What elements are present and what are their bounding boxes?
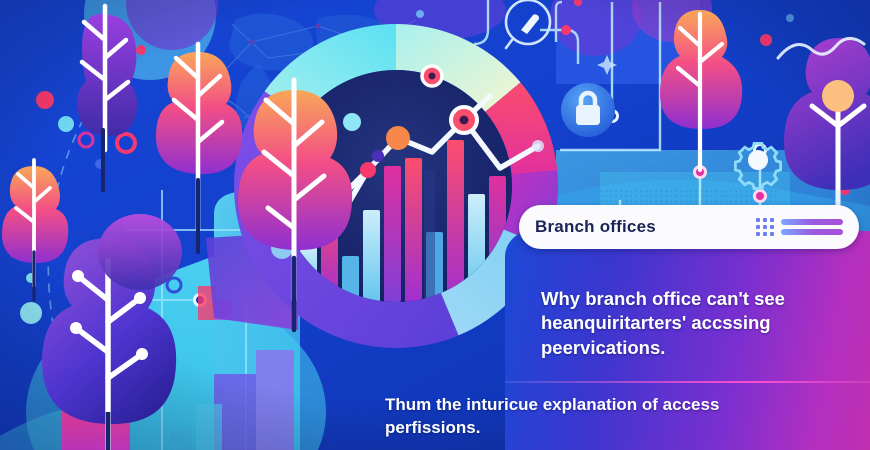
grid-dots-icon[interactable] — [756, 218, 774, 236]
branch-offices-card[interactable]: Why branch office can't see heanquiritar… — [505, 205, 870, 450]
card-title: Branch offices — [535, 217, 756, 237]
lock-icon[interactable] — [561, 83, 615, 137]
card-title-bar[interactable]: Branch offices — [519, 205, 859, 249]
gear-icon[interactable] — [735, 143, 780, 188]
card-subtext: Thum the inturicue explanation of access… — [385, 393, 815, 440]
card-headline: Why branch office can't see heanquiritar… — [541, 287, 841, 360]
menu-bars-icon[interactable] — [781, 219, 843, 235]
pencil-icon[interactable] — [506, 0, 550, 48]
card-body: Why branch office can't see heanquiritar… — [505, 231, 870, 450]
card-divider — [505, 381, 870, 383]
illustration-canvas: Why branch office can't see heanquiritar… — [0, 0, 870, 450]
